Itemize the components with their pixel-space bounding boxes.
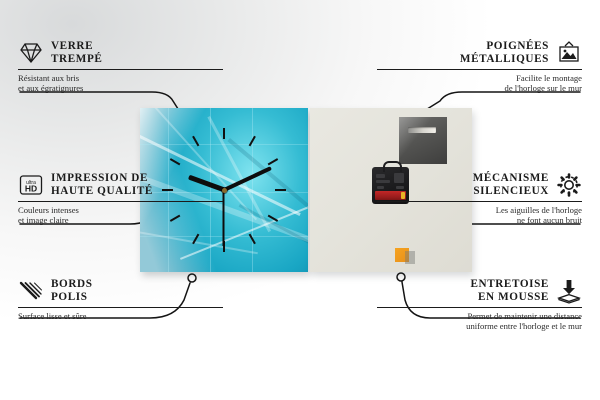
- feature-subtitle: Les aiguilles de l'horlogene font aucun …: [377, 205, 582, 226]
- gear-icon: [556, 172, 582, 198]
- clock-second-hand: [223, 190, 225, 246]
- feature-subtitle: Facilite le montagede l'horloge sur le m…: [377, 73, 582, 94]
- mechanism-hook: [383, 161, 402, 172]
- feature-title: POIGNÉESMÉTALLIQUES: [460, 40, 549, 65]
- metal-hanger-plate: [399, 117, 447, 164]
- svg-text:HD: HD: [25, 184, 37, 194]
- feature-title: IMPRESSION DEHAUTE QUALITÉ: [51, 172, 153, 197]
- feature-title: BORDSPOLIS: [51, 278, 93, 303]
- feature-underline: [18, 69, 223, 70]
- feature-title: ENTRETOISEEN MOUSSE: [470, 278, 549, 303]
- infographic-canvas: VERRETREMPÉ Résistant aux briset aux égr…: [0, 0, 600, 400]
- feature-verre-trempe: VERRETREMPÉ Résistant aux briset aux égr…: [18, 40, 223, 94]
- feature-underline: [377, 69, 582, 70]
- hanger-slot: [408, 127, 436, 133]
- feature-subtitle: Couleurs intenseset image claire: [18, 205, 223, 226]
- feature-mecanisme-silencieux: MÉCANISMESILENCIEUX Les aiguilles de l'h…: [377, 172, 582, 226]
- feature-poignees-metalliques: POIGNÉESMÉTALLIQUES Facilite le montaged…: [377, 40, 582, 94]
- feature-bords-polis: BORDSPOLIS Surface lisse et sûre: [18, 278, 223, 321]
- feature-underline: [18, 201, 223, 202]
- feature-underline: [377, 307, 582, 308]
- polished-edges-icon: [18, 278, 44, 304]
- feature-subtitle: Surface lisse et sûre: [18, 311, 223, 321]
- ultra-hd-icon: ultra HD: [18, 172, 44, 198]
- press-down-foam-icon: [556, 278, 582, 304]
- feature-impression-haute-qualite: ultra HD IMPRESSION DEHAUTE QUALITÉ Coul…: [18, 172, 223, 226]
- feature-underline: [18, 307, 223, 308]
- feature-title: VERRETREMPÉ: [51, 40, 102, 65]
- feature-underline: [377, 201, 582, 202]
- diamond-icon: [18, 40, 44, 66]
- feature-subtitle: Résistant aux briset aux égratignures: [18, 73, 223, 94]
- foam-spacer: [395, 248, 409, 262]
- feature-entretoise-en-mousse: ENTRETOISEEN MOUSSE Permet de maintenir …: [377, 278, 582, 332]
- feature-subtitle: Permet de maintenir une distanceuniforme…: [377, 311, 582, 332]
- feature-title: MÉCANISMESILENCIEUX: [473, 172, 549, 197]
- picture-hanger-icon: [556, 40, 582, 66]
